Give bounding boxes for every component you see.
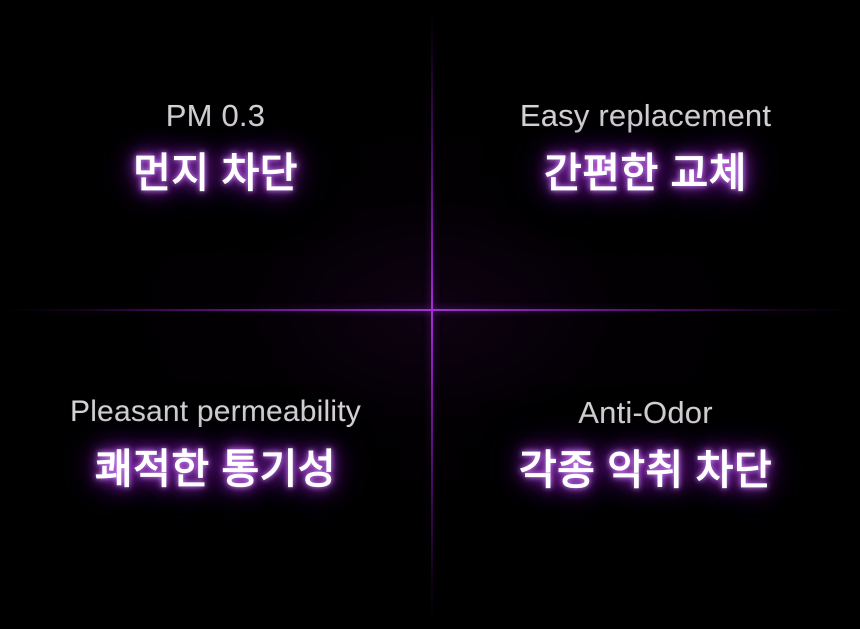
quadrant-pm03: PM 0.3 먼지 차단 bbox=[0, 0, 431, 310]
feature-label-ko-pm03: 먼지 차단 bbox=[133, 151, 298, 195]
feature-label-ko-anti-odor: 각종 악취 차단 bbox=[519, 448, 772, 492]
feature-label-ko-easy-replacement: 간편한 교체 bbox=[544, 151, 747, 195]
feature-label-en-pleasant-permeability: Pleasant permeability bbox=[70, 397, 361, 427]
quadrant-grid: PM 0.3 먼지 차단 Easy replacement 간편한 교체 Ple… bbox=[0, 0, 860, 629]
feature-grid-banner: PM 0.3 먼지 차단 Easy replacement 간편한 교체 Ple… bbox=[0, 0, 860, 629]
quadrant-anti-odor: Anti-Odor 각종 악취 차단 bbox=[431, 310, 860, 629]
feature-label-ko-pleasant-permeability: 쾌적한 통기성 bbox=[95, 447, 336, 491]
quadrant-easy-replacement: Easy replacement 간편한 교체 bbox=[431, 0, 860, 310]
feature-label-en-easy-replacement: Easy replacement bbox=[520, 100, 771, 131]
feature-label-en-pm03: PM 0.3 bbox=[166, 100, 265, 131]
feature-label-en-anti-odor: Anti-Odor bbox=[578, 397, 712, 428]
quadrant-pleasant-permeability: Pleasant permeability 쾌적한 통기성 bbox=[0, 310, 431, 629]
